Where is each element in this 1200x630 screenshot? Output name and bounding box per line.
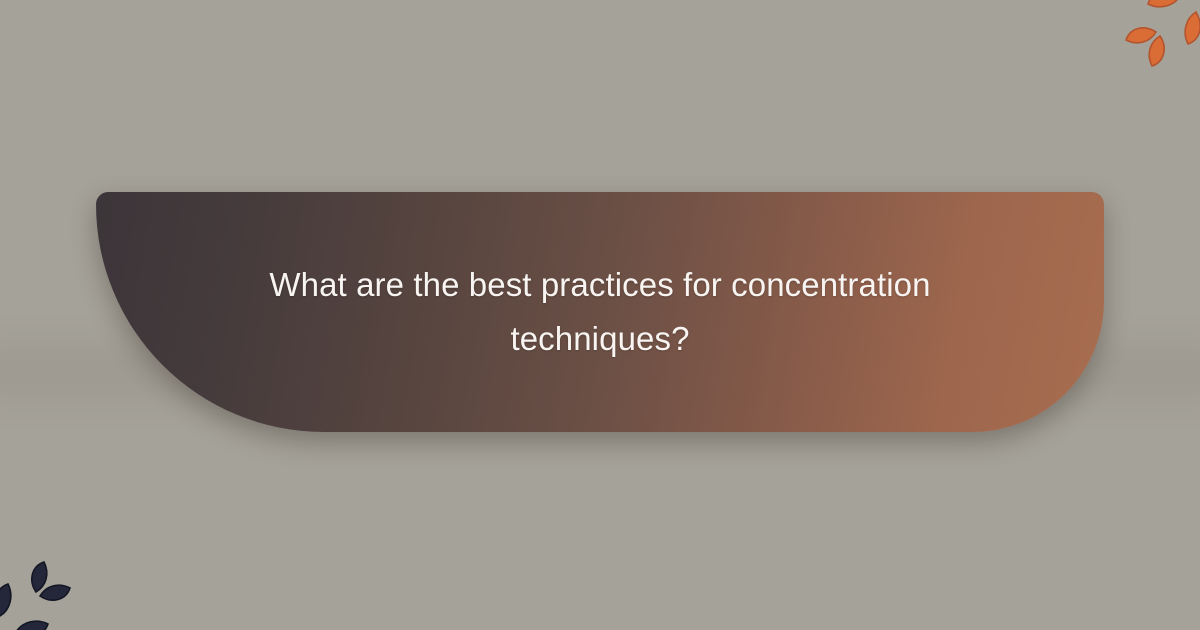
question-text: What are the best practices for concentr… bbox=[226, 258, 974, 367]
floral-corner-ornament-orange-icon bbox=[1052, 0, 1200, 140]
question-banner: What are the best practices for concentr… bbox=[96, 192, 1104, 432]
floral-corner-ornament-navy-icon bbox=[0, 488, 144, 630]
screenshot-canvas: What are the best practices for concentr… bbox=[0, 0, 1200, 630]
